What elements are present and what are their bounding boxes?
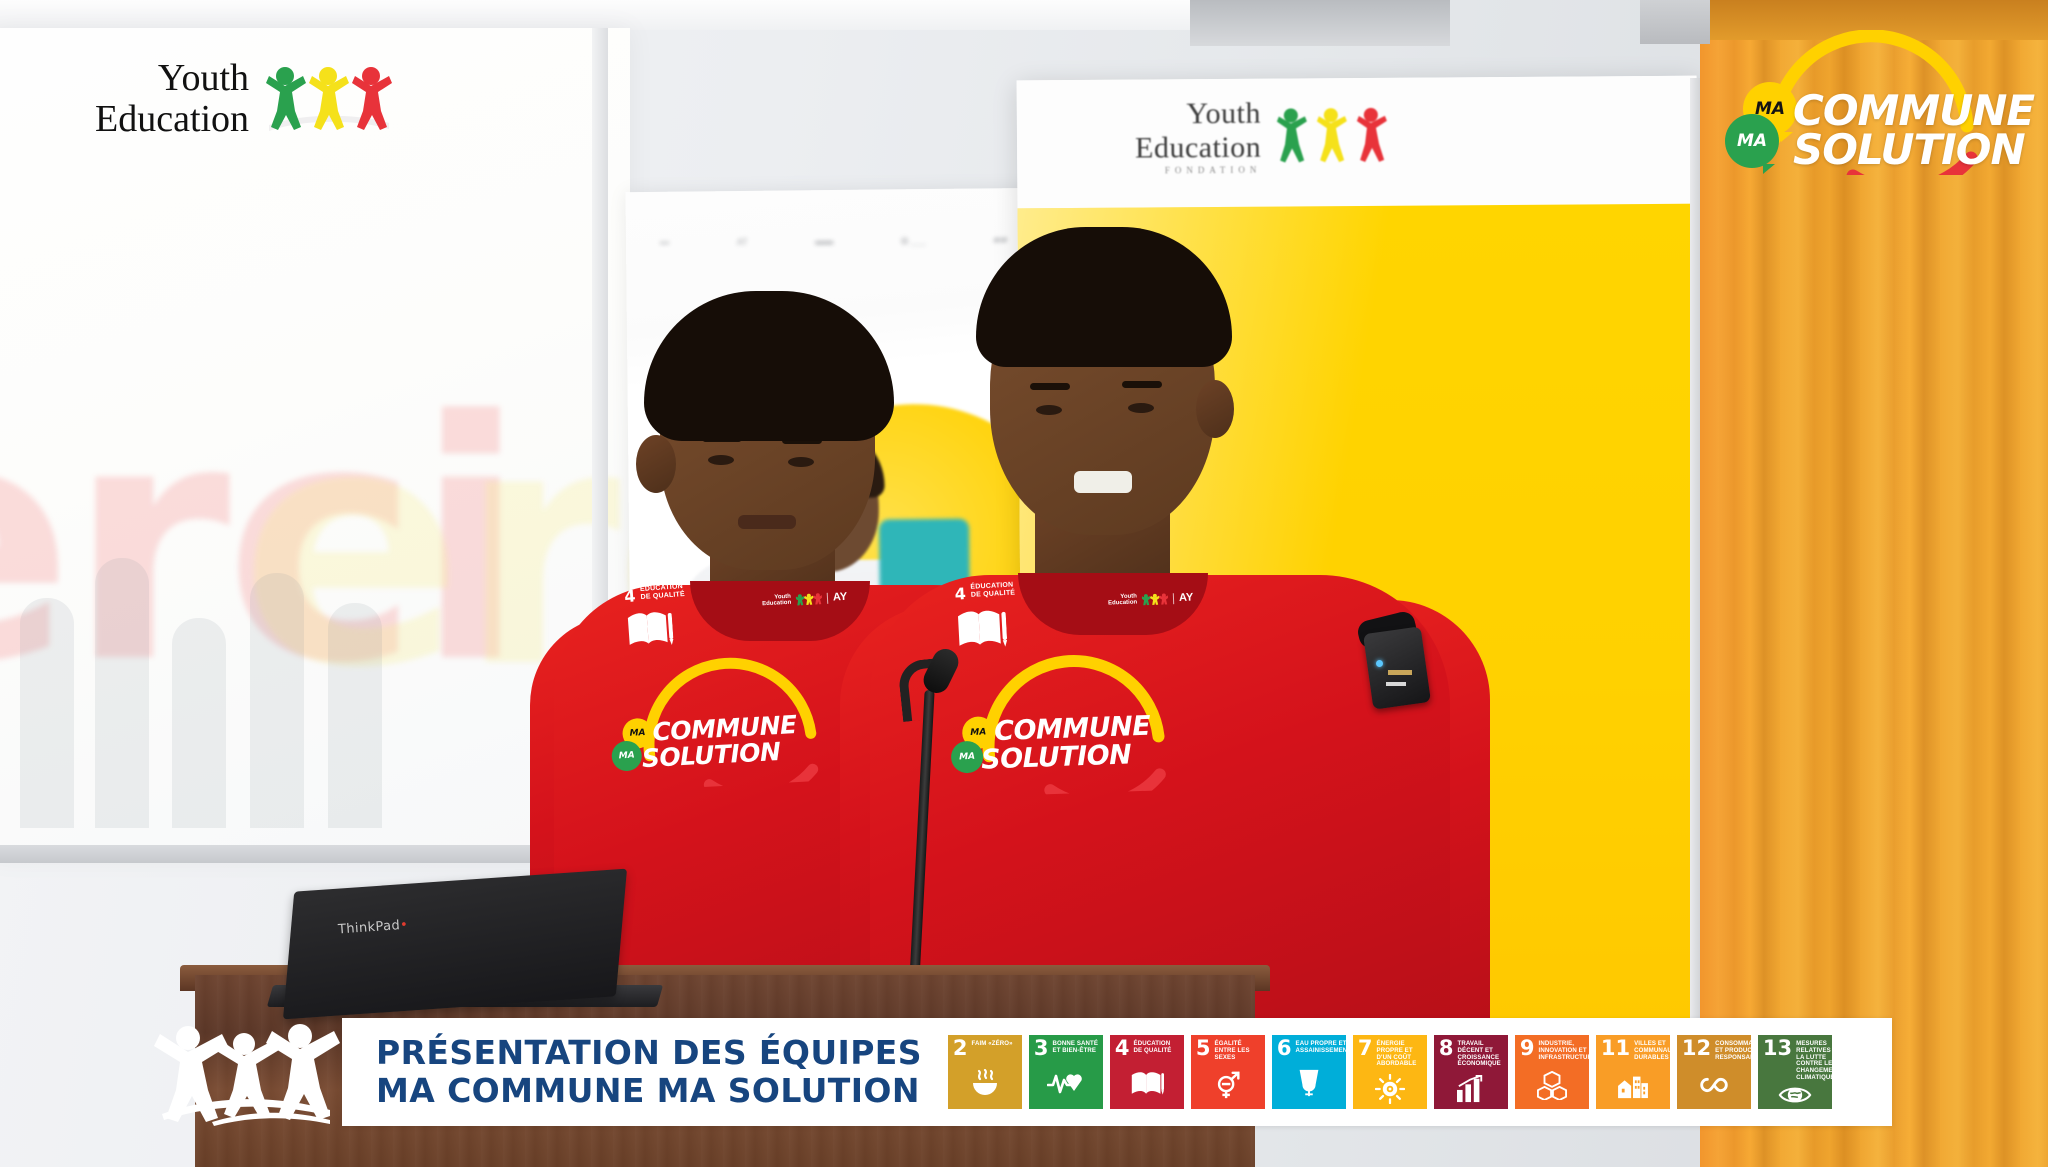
tshirt-word-solution: SOLUTION bbox=[641, 741, 781, 771]
banner-logo-line3: FONDATION bbox=[1135, 165, 1261, 176]
sdg-label: EAU PROPRE ET ASSAINISSEMENT bbox=[1296, 1040, 1352, 1055]
sdg-label: BONNE SANTÉ ET BIEN-ÊTRE bbox=[1053, 1040, 1099, 1055]
partner-logo: ▪▪▪ bbox=[660, 239, 670, 249]
recorder-label-strip-2 bbox=[1386, 682, 1406, 686]
recorder-label-strip bbox=[1388, 670, 1412, 675]
youth-education-line2: Education bbox=[95, 99, 249, 140]
climate-eye-icon bbox=[1763, 1082, 1828, 1109]
recorder-led-icon bbox=[1376, 660, 1383, 667]
sun-power-icon bbox=[1358, 1068, 1423, 1109]
partner-logo: ▬▬ bbox=[815, 237, 833, 247]
sdg-number: 7 bbox=[1358, 1040, 1373, 1058]
sdg-badge-9: 9INDUSTRIE, INNOVATION ET INFRASTRUCTURE bbox=[1515, 1035, 1589, 1109]
ma-commune-solution-logo: MA MA COMMUNE SOLUTION bbox=[1735, 30, 2020, 175]
caption-figures-logo bbox=[152, 1018, 342, 1126]
open-book-icon bbox=[1115, 1058, 1180, 1109]
banner-youth-education-logo: Youth Education FONDATION bbox=[1135, 96, 1394, 176]
sdg-badge-12: 12CONSOMMATION ET PRODUCTION RESPONSABLE… bbox=[1677, 1035, 1751, 1109]
photo-scene: erci erci ▪▪▪ AT ▬▬ ◍ ___ ▰▰ bbox=[0, 0, 2048, 1167]
banner-logo-line1: Youth bbox=[1135, 97, 1261, 132]
curtain-rod-bracket bbox=[1640, 0, 1710, 44]
sdg-label: ÉDUCATION DE QUALITÉ bbox=[1134, 1040, 1180, 1055]
sdg-badge-2: 2FAIM «ZÉRO» bbox=[948, 1035, 1022, 1109]
gender-equality-icon bbox=[1196, 1061, 1261, 1109]
sdg-label: ÉNERGIE PROPRE ET D'UN COÛT ABORDABLE bbox=[1377, 1040, 1423, 1068]
sdg-label: TRAVAIL DÉCENT ET CROISSANCE ÉCONOMIQUE bbox=[1458, 1040, 1504, 1068]
sdg-label: INDUSTRIE, INNOVATION ET INFRASTRUCTURE bbox=[1539, 1040, 1597, 1061]
caption-bar: PRÉSENTATION DES ÉQUIPES MA COMMUNE MA S… bbox=[152, 1018, 1892, 1126]
sdg-label: MESURES RELATIVES À LA LUTTE CONTRE LES … bbox=[1796, 1040, 1845, 1082]
sdg-badge-11: 11VILLES ET COMMUNAUTÉS DURABLES bbox=[1596, 1035, 1670, 1109]
lavalier-recorder bbox=[1363, 626, 1431, 709]
caption-white-panel: PRÉSENTATION DES ÉQUIPES MA COMMUNE MA S… bbox=[342, 1018, 1892, 1126]
sdg-badge-5: 5ÉGALITÉ ENTRE LES SEXES bbox=[1191, 1035, 1265, 1109]
caption-title-line2: MA COMMUNE MA SOLUTION bbox=[376, 1072, 922, 1110]
sdg-number: 11 bbox=[1601, 1040, 1630, 1058]
sdg-number: 3 bbox=[1034, 1040, 1049, 1058]
laptop-lid bbox=[283, 869, 627, 1020]
tshirt-commune-solution-logo-left: MA MA COMMUNE SOLUTION bbox=[607, 648, 873, 791]
sdg-badge-13: 13MESURES RELATIVES À LA LUTTE CONTRE LE… bbox=[1758, 1035, 1832, 1109]
sdg-label: ÉGALITÉ ENTRE LES SEXES bbox=[1215, 1040, 1261, 1061]
caption-title: PRÉSENTATION DES ÉQUIPES MA COMMUNE MA S… bbox=[376, 1034, 922, 1109]
heartbeat-icon bbox=[1034, 1058, 1099, 1109]
logo-wordmark: COMMUNE SOLUTION bbox=[1793, 92, 2034, 169]
banner-logo-line2: Education bbox=[1135, 131, 1261, 166]
tshirt-word-solution: SOLUTION bbox=[981, 743, 1132, 773]
sdg-number: 12 bbox=[1682, 1040, 1711, 1058]
sdg-number: 2 bbox=[953, 1040, 968, 1058]
sdg-number: 6 bbox=[1277, 1040, 1292, 1058]
sdg-number: 9 bbox=[1520, 1040, 1535, 1058]
logo-bubble-text-2: MA bbox=[1737, 131, 1767, 151]
sdg-badge-4: 4ÉDUCATION DE QUALITÉ bbox=[1110, 1035, 1184, 1109]
sdg-badge-6: 6EAU PROPRE ET ASSAINISSEMENT bbox=[1272, 1035, 1346, 1109]
sdg-badge-7: 7ÉNERGIE PROPRE ET D'UN COÛT ABORDABLE bbox=[1353, 1035, 1427, 1109]
caption-title-line1: PRÉSENTATION DES ÉQUIPES bbox=[376, 1034, 922, 1072]
sdg-number: 4 bbox=[1115, 1040, 1130, 1058]
three-figures-icon bbox=[263, 63, 393, 135]
curtain-shading bbox=[1700, 0, 2048, 1167]
partner-logo: AT bbox=[737, 238, 748, 248]
sdg-number: 13 bbox=[1763, 1040, 1792, 1058]
three-figures-icon bbox=[1273, 104, 1393, 167]
logo-bubble-ma-green: MA bbox=[1725, 114, 1779, 168]
wall-upper-band bbox=[0, 0, 1240, 30]
growth-chart-icon bbox=[1439, 1068, 1504, 1109]
orange-curtain bbox=[1700, 0, 2048, 1167]
tshirt-commune-solution-logo-right: MA MA COMMUNE SOLUTION bbox=[946, 648, 1221, 797]
cubes-icon bbox=[1520, 1061, 1585, 1109]
sdg-label: FAIM «ZÉRO» bbox=[972, 1040, 1013, 1048]
sdg-badge-8: 8TRAVAIL DÉCENT ET CROISSANCE ÉCONOMIQUE bbox=[1434, 1035, 1508, 1109]
infinity-icon bbox=[1682, 1061, 1747, 1109]
youth-education-logo: Youth Education bbox=[95, 58, 393, 140]
water-drop-icon bbox=[1277, 1058, 1342, 1109]
logo-word-solution: SOLUTION bbox=[1793, 131, 2034, 170]
sdg-badge-3: 3BONNE SANTÉ ET BIEN-ÊTRE bbox=[1029, 1035, 1103, 1109]
youth-education-line1: Youth bbox=[95, 58, 249, 99]
projected-silhouettes bbox=[0, 498, 420, 828]
bowl-steam-icon bbox=[953, 1058, 1018, 1109]
city-buildings-icon bbox=[1601, 1061, 1666, 1109]
sdg-icon-row: 2FAIM «ZÉRO» 3BONNE SANTÉ ET BIEN-ÊTRE 4… bbox=[948, 1035, 1848, 1109]
wall-shadow-strip bbox=[1190, 0, 1450, 46]
sdg-number: 5 bbox=[1196, 1040, 1211, 1058]
sdg-number: 8 bbox=[1439, 1040, 1454, 1058]
